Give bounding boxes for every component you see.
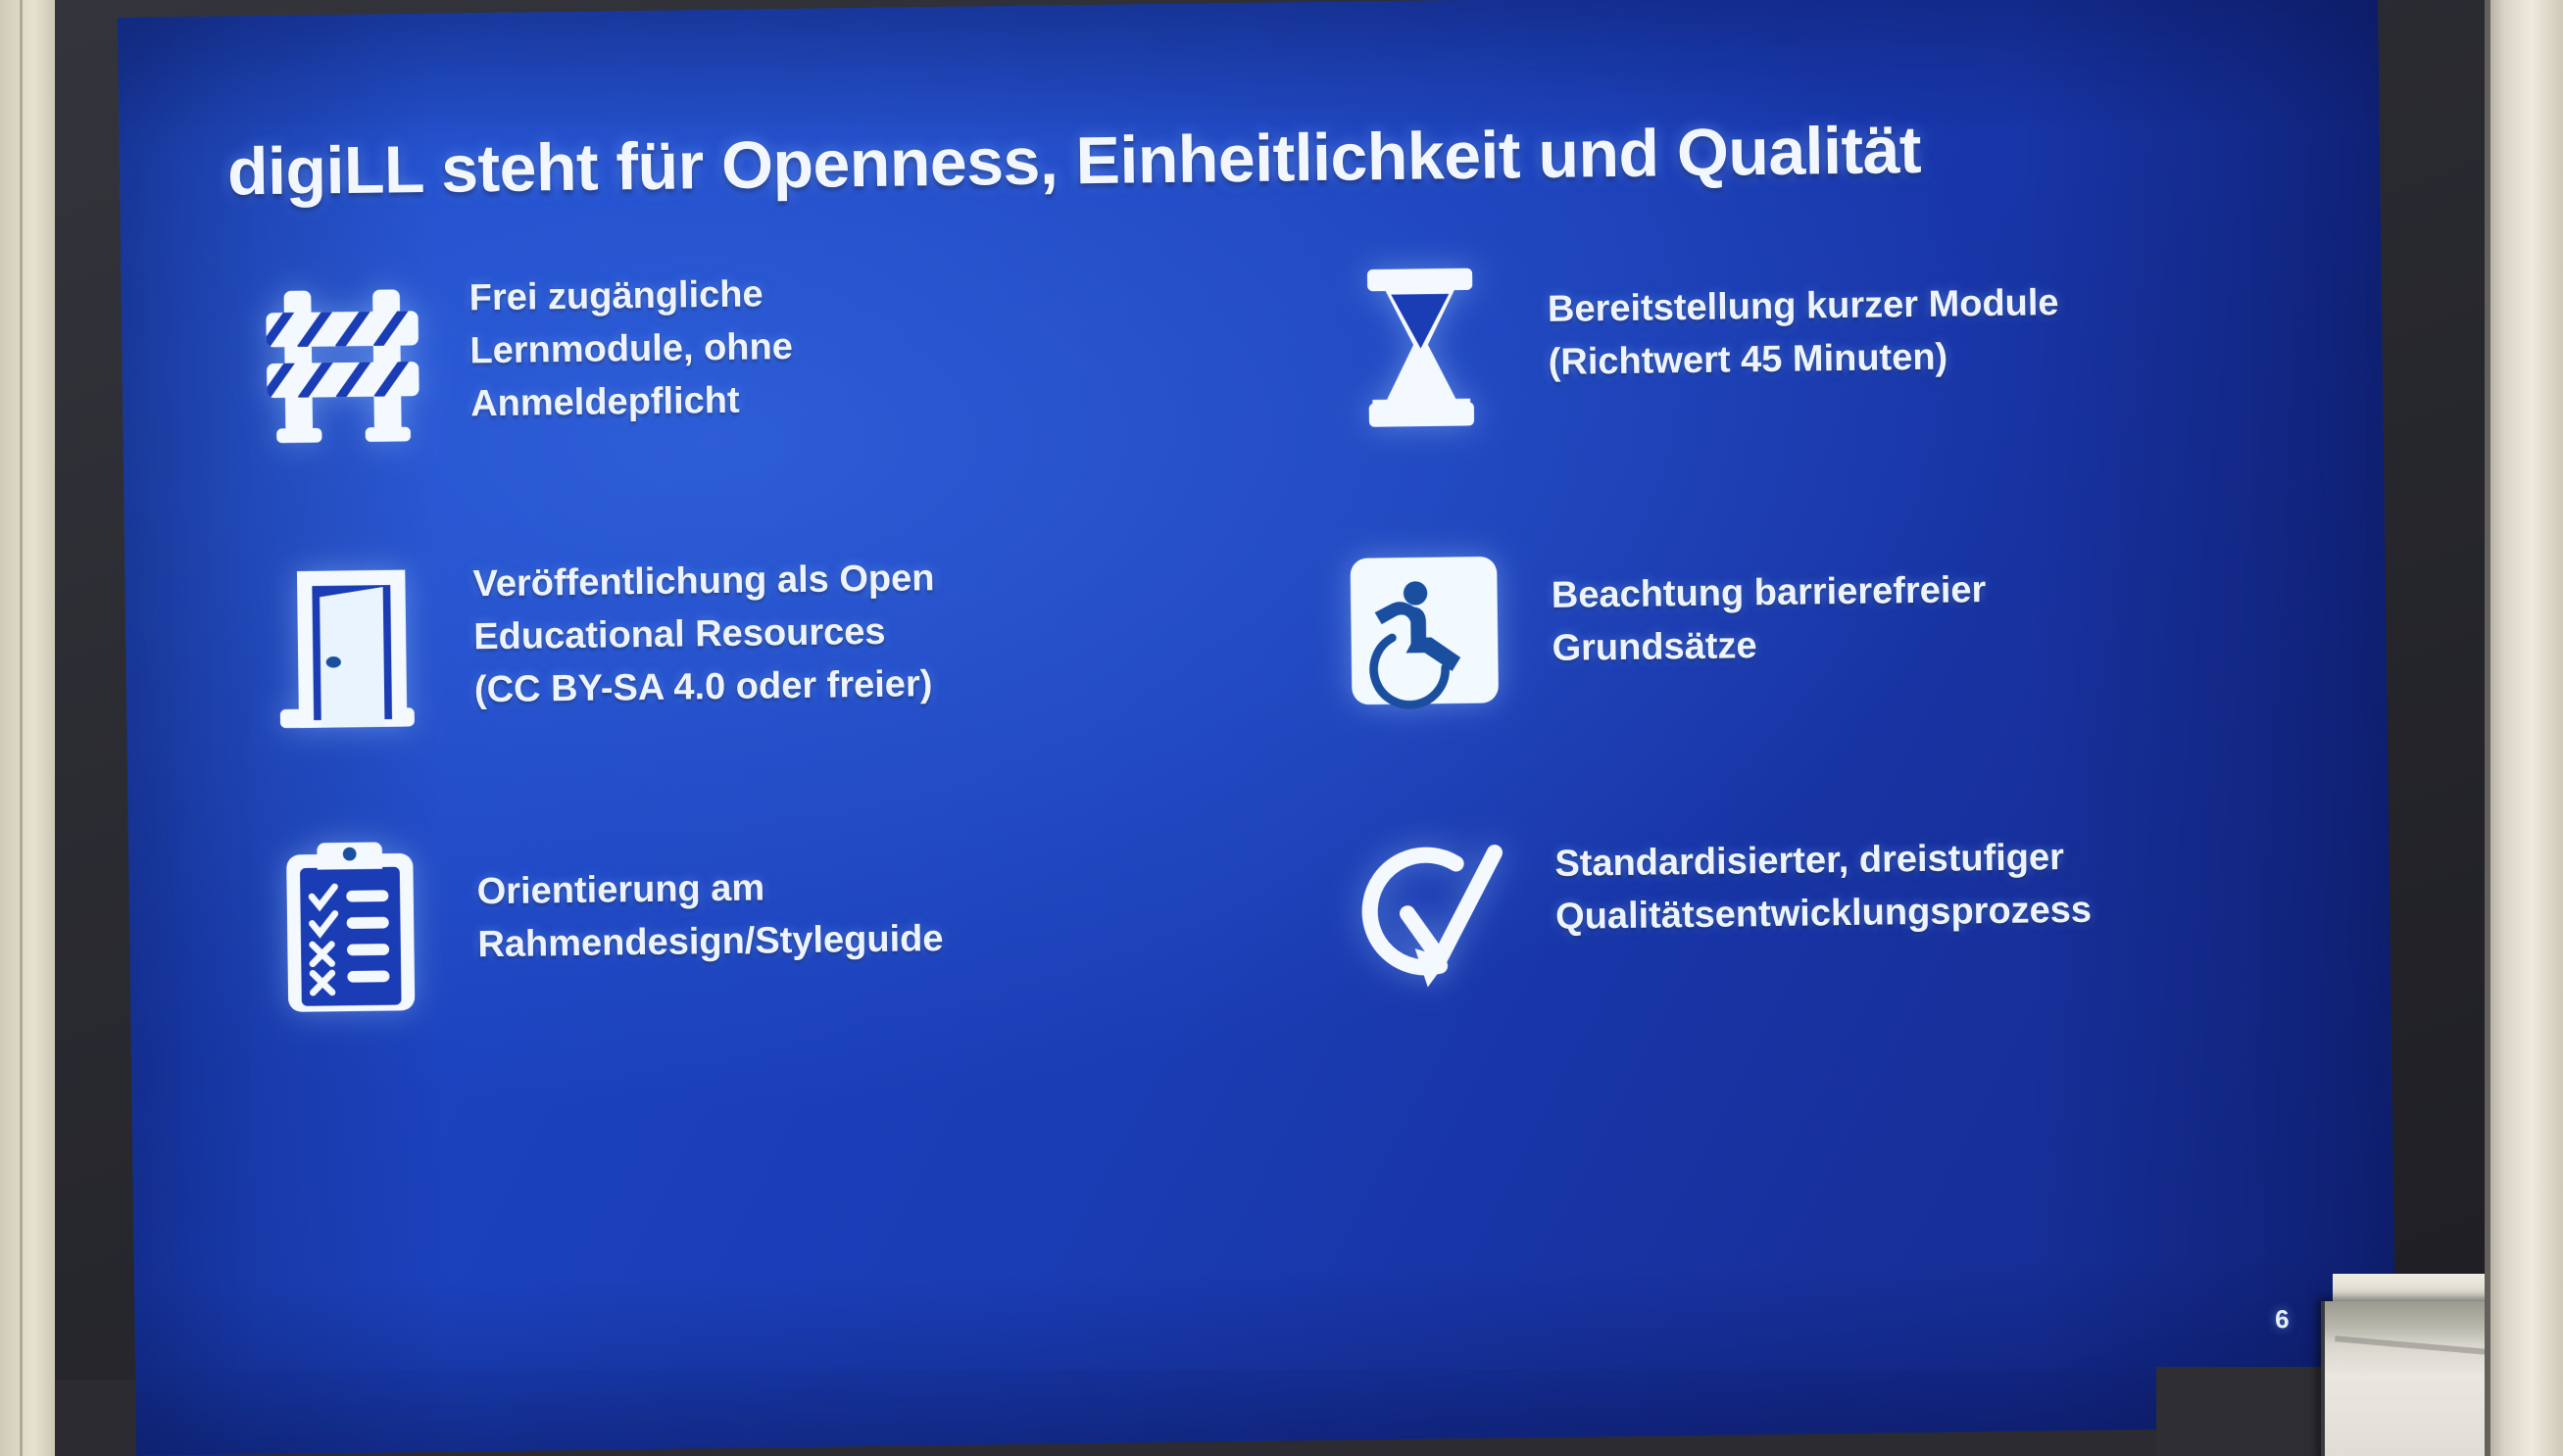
feature-text-line: Beachtung barrierefreier bbox=[1552, 564, 1987, 623]
feature-text-line: Orientierung am bbox=[476, 860, 943, 919]
feature-item-qualitaetsentwicklungsprozess: Standardisierter, dreistufiger Qualitäts… bbox=[1300, 803, 2313, 1098]
feature-text-line: Bereitstellung kurzer Module bbox=[1548, 277, 2059, 337]
feature-text-line: (CC BY-SA 4.0 oder freier) bbox=[474, 658, 937, 717]
feature-item-orientierung-am-rahmendesign: Orientierung am Rahmendesign/Styleguide bbox=[222, 817, 1235, 1112]
feature-item-text: Beachtung barrierefreier Grundsätze bbox=[1551, 525, 1987, 676]
feature-text-line: Educational Resources bbox=[473, 606, 936, 664]
feature-text-line: Lernmodule, ohne bbox=[469, 321, 793, 378]
wheelchair-accessibility-icon bbox=[1296, 531, 1553, 730]
road-barrier-icon bbox=[214, 263, 471, 461]
feature-text-line: Frei zugängliche bbox=[468, 268, 792, 325]
feature-item-bereitstellung-kurzer-module: Bereitstellung kurzer Module (Richtwert … bbox=[1292, 239, 2305, 534]
feature-item-beachtung-barrierefreier-grundsaetze: Beachtung barrierefreier Grundsätze bbox=[1296, 521, 2309, 816]
clipboard-checklist-icon bbox=[222, 827, 479, 1026]
presentation-slide-surface: digiLL steht für Openness, Einheitlichke… bbox=[118, 0, 2396, 1456]
feature-text-line: Qualitätsentwicklungsprozess bbox=[1555, 885, 2093, 945]
feature-text-line: Anmeldepflicht bbox=[470, 374, 794, 431]
photo-scene: digiLL steht für Openness, Einheitlichke… bbox=[0, 0, 2563, 1456]
slide-page-number: 6 bbox=[2275, 1304, 2290, 1335]
feature-text-line: Veröffentlichung als Open bbox=[472, 553, 935, 611]
feature-text-line: Rahmendesign/Styleguide bbox=[477, 913, 944, 972]
feature-item-text: Standardisierter, dreistufiger Qualitäts… bbox=[1554, 806, 2093, 945]
feature-item-frei-zugaengliche-lernmodule: Frei zugängliche Lernmodule, ohne Anmeld… bbox=[214, 253, 1227, 548]
feature-item-veroeffentlichung-als-oer: Veröffentlichung als Open Educational Re… bbox=[218, 535, 1231, 830]
feature-item-text: Orientierung am Rahmendesign/Styleguide bbox=[476, 821, 944, 972]
slide-content: digiLL steht für Openness, Einheitlichke… bbox=[118, 0, 2396, 1456]
feature-item-text: Bereitstellung kurzer Module (Richtwert … bbox=[1547, 242, 2059, 390]
wall-strip-right bbox=[2485, 0, 2563, 1456]
hourglass-icon bbox=[1292, 249, 1550, 448]
wall-strip-left bbox=[0, 0, 55, 1456]
feature-text-line: (Richtwert 45 Minuten) bbox=[1548, 330, 2059, 390]
feature-item-text: Veröffentlichung als Open Educational Re… bbox=[472, 539, 936, 717]
feature-text-line: Grundsätze bbox=[1552, 617, 1987, 676]
open-door-icon bbox=[218, 545, 475, 744]
feature-grid: Frei zugängliche Lernmodule, ohne Anmeld… bbox=[214, 239, 2312, 1113]
feature-text-line: Standardisierter, dreistufiger bbox=[1554, 832, 2092, 892]
cycle-checkmark-icon bbox=[1300, 813, 1557, 1012]
slide-title: digiLL steht für Openness, Einheitlichke… bbox=[227, 107, 2287, 210]
feature-item-text: Frei zugängliche Lernmodule, ohne Anmeld… bbox=[468, 259, 794, 431]
